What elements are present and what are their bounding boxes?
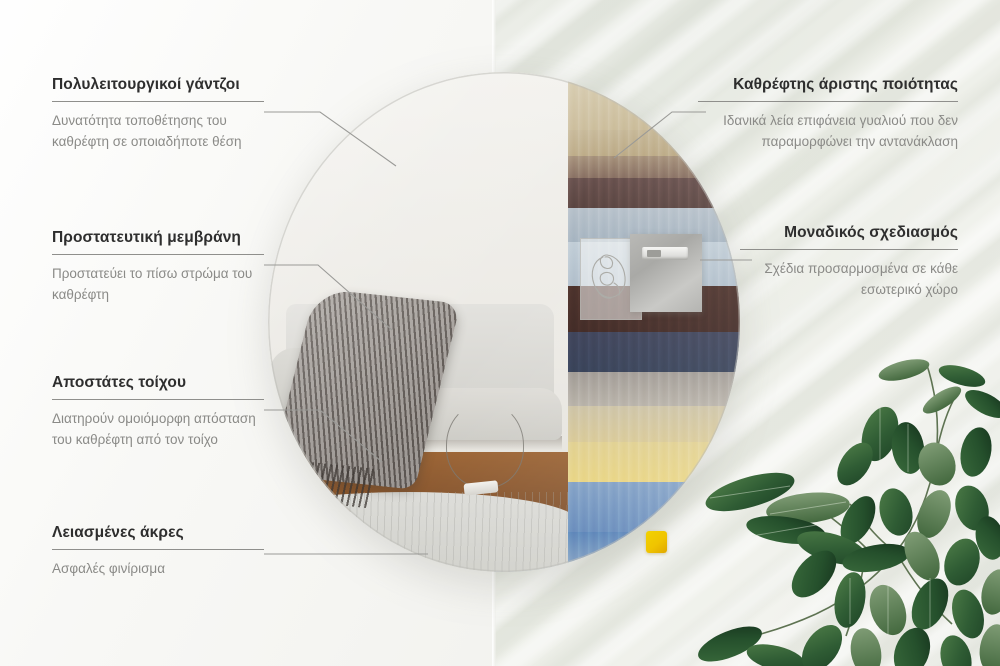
callout-spacers-rule	[52, 399, 264, 400]
callout-membrane: Προστατευτική μεμβράνη Προστατεύει το πί…	[52, 229, 264, 305]
mirror-body	[268, 72, 740, 572]
wire-floor-lamp	[446, 402, 524, 488]
callout-membrane-rule	[52, 254, 264, 255]
callout-spacers-desc: Διατηρούν ομοιόμορφη απόσταση του καθρέφ…	[52, 409, 264, 450]
callout-edges: Λειασμένες άκρες Ασφαλές φινίρισμα	[52, 524, 264, 580]
callout-quality-title: Καθρέφτης άριστης ποιότητας	[698, 76, 958, 94]
room-rug	[268, 492, 568, 572]
plant-leaves	[694, 355, 1000, 666]
callout-edges-title: Λειασμένες άκρες	[52, 524, 264, 542]
wall-spacer-block	[646, 531, 667, 553]
callout-edges-rule	[52, 549, 264, 550]
callout-quality-rule	[698, 101, 958, 102]
callout-quality: Καθρέφτης άριστης ποιότητας Ιδανικά λεία…	[698, 76, 958, 152]
callout-hooks-desc: Δυνατότητα τοποθέτησης του καθρέφτη σε ο…	[52, 111, 264, 152]
green-foliage-branches	[690, 352, 1000, 666]
product-feature-infographic: Πολυλειτουργικοί γάντζοι Δυνατότητα τοπο…	[0, 0, 1000, 666]
callout-spacers: Αποστάτες τοίχου Διατηρούν ομοιόμορφη απ…	[52, 374, 264, 450]
rug-weave-lines	[268, 492, 568, 572]
callout-spacers-title: Αποστάτες τοίχου	[52, 374, 264, 392]
reflected-room-scene	[268, 72, 568, 572]
callout-hooks: Πολυλειτουργικοί γάντζοι Δυνατότητα τοπο…	[52, 76, 264, 152]
callout-design-rule	[740, 249, 958, 250]
callout-design-title: Μοναδικός σχεδιασμός	[740, 224, 958, 242]
hook-mounting-slot	[647, 250, 661, 257]
callout-hooks-rule	[52, 101, 264, 102]
callout-membrane-desc: Προστατεύει το πίσω στρώμα του καθρέφτη	[52, 264, 264, 305]
callout-design: Μοναδικός σχεδιασμός Σχέδια προσαρμοσμέν…	[740, 224, 958, 300]
callout-quality-desc: Ιδανικά λεία επιφάνεια γυαλιού που δεν π…	[698, 111, 958, 152]
callout-hooks-title: Πολυλειτουργικοί γάντζοι	[52, 76, 264, 94]
wall-hook-plate	[630, 234, 702, 312]
mirror-product	[268, 72, 740, 572]
callout-membrane-title: Προστατευτική μεμβράνη	[52, 229, 264, 247]
callout-edges-desc: Ασφαλές φινίρισμα	[52, 559, 264, 580]
callout-design-desc: Σχέδια προσαρμοσμένα σε κάθε εσωτερικό χ…	[740, 259, 958, 300]
